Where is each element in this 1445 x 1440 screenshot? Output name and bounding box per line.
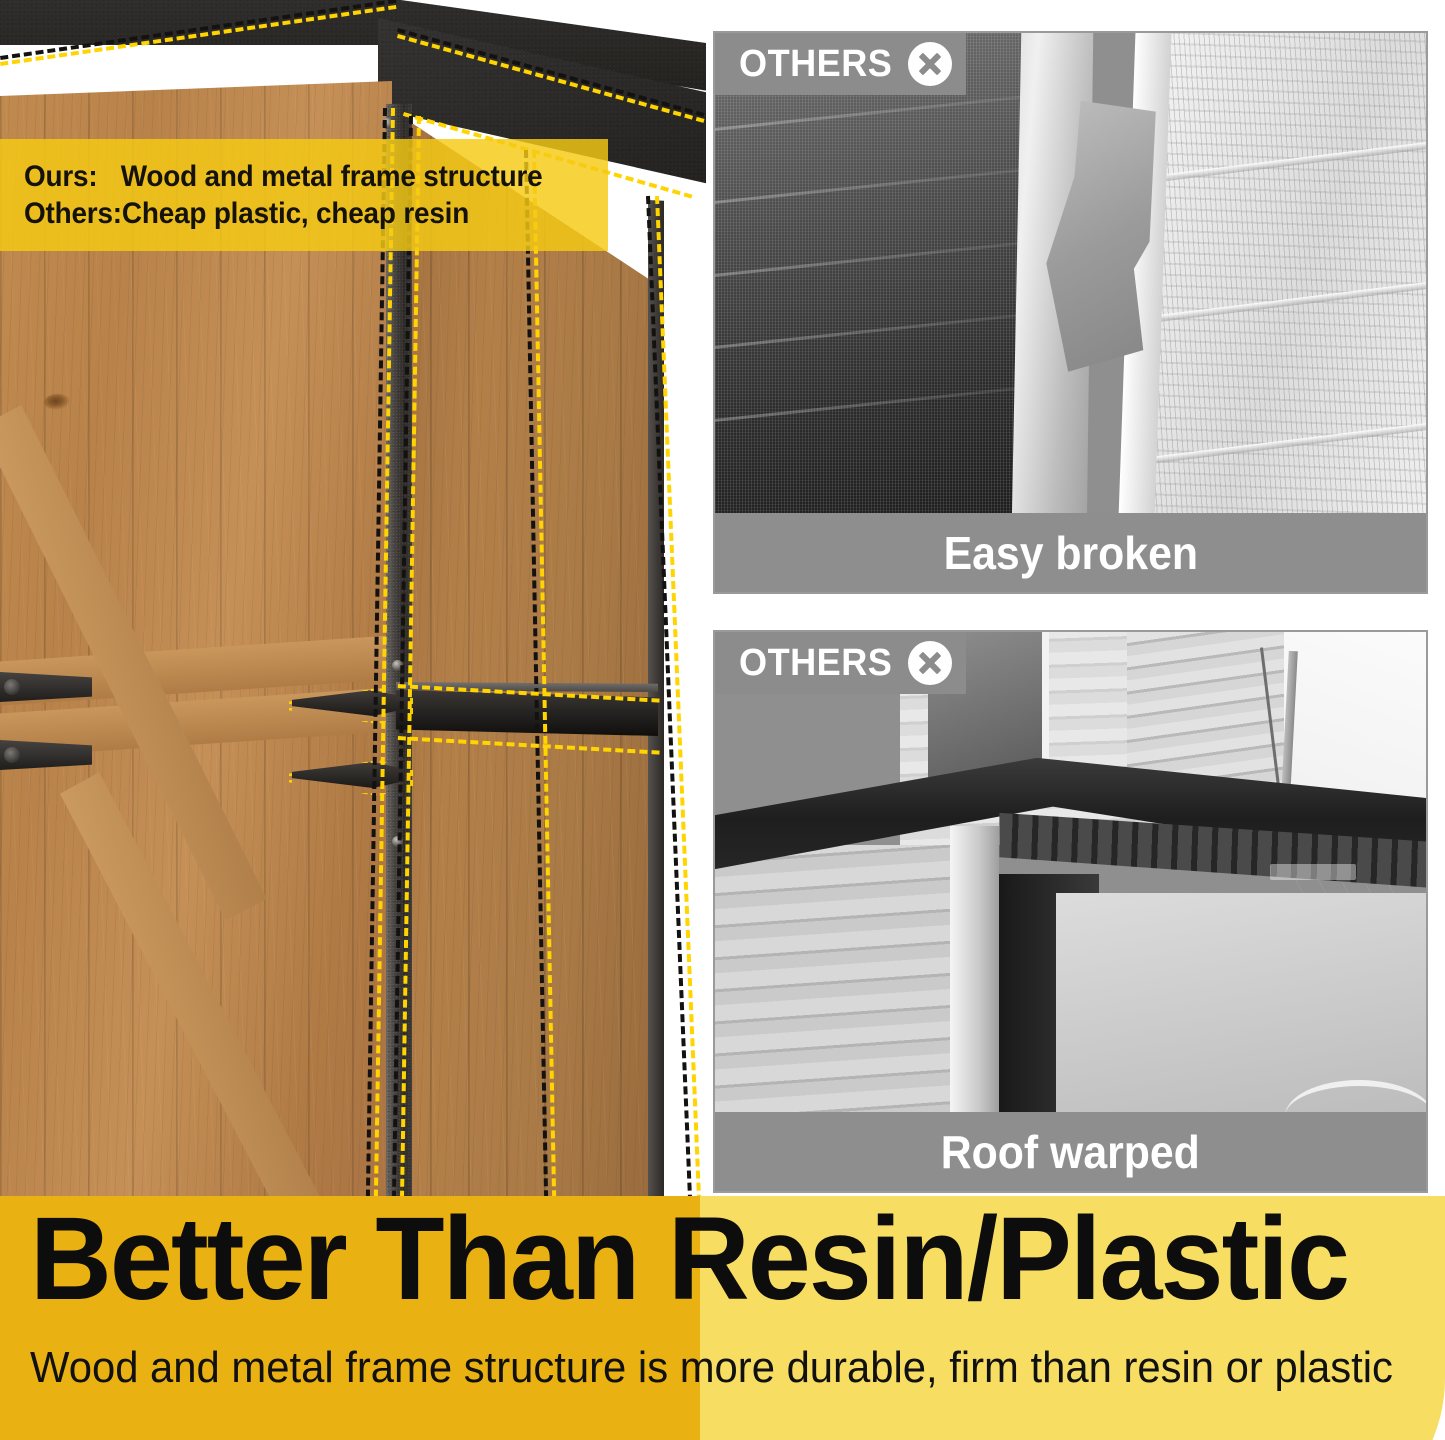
callout-line-ours: Ours:Wood and metal frame structure bbox=[24, 159, 567, 194]
bottom-banner: Better Than Resin/Plastic Wood and metal… bbox=[0, 1196, 1445, 1440]
others-badge-label: OTHERS bbox=[739, 45, 892, 83]
others-badge-label: OTHERS bbox=[739, 644, 892, 682]
callout-others-text: Cheap plastic, cheap resin bbox=[122, 197, 469, 230]
textured-siding-right bbox=[1142, 33, 1426, 517]
photo-warped-plastic-roof: OTHERS bbox=[715, 632, 1426, 1116]
door-arch-detail bbox=[1285, 1080, 1426, 1116]
caption-text: Easy broken bbox=[943, 530, 1197, 576]
hinge-pin bbox=[4, 747, 20, 763]
comparison-panel-easy-broken: OTHERS Easy broken bbox=[713, 31, 1428, 594]
callout-ours-text: Wood and metal frame structure bbox=[121, 160, 543, 193]
comparison-panel-roof-warped: OTHERS Roof warped bbox=[713, 630, 1428, 1193]
callout-others-lead: Others: bbox=[24, 196, 122, 231]
shed-corner-trim bbox=[950, 826, 1000, 1116]
callout-overlay: Ours:Wood and metal frame structure Othe… bbox=[0, 139, 608, 251]
photo-cracked-plastic-corner: OTHERS bbox=[715, 33, 1426, 517]
others-badge: OTHERS bbox=[715, 632, 966, 694]
hinge-pin bbox=[4, 679, 20, 695]
others-badge: OTHERS bbox=[715, 33, 966, 95]
callout-line-others: Others:Cheap plastic, cheap resin bbox=[24, 196, 567, 231]
caption-bar: Roof warped bbox=[715, 1112, 1426, 1191]
infographic-canvas: Ours:Wood and metal frame structure Othe… bbox=[0, 0, 1445, 1440]
wood-knot bbox=[44, 393, 70, 410]
caption-bar: Easy broken bbox=[715, 513, 1426, 592]
caption-text: Roof warped bbox=[941, 1129, 1200, 1175]
banner-subline: Wood and metal frame structure is more d… bbox=[30, 1346, 1360, 1390]
x-mark-icon bbox=[908, 42, 952, 86]
callout-ours-lead: Ours: bbox=[24, 159, 121, 194]
brand-logo-mark bbox=[1270, 864, 1356, 880]
shed-door-panel bbox=[1056, 893, 1426, 1116]
banner-headline: Better Than Resin/Plastic bbox=[30, 1200, 1374, 1318]
shed-interior-dark-panel bbox=[715, 33, 1042, 517]
x-mark-icon bbox=[908, 641, 952, 685]
